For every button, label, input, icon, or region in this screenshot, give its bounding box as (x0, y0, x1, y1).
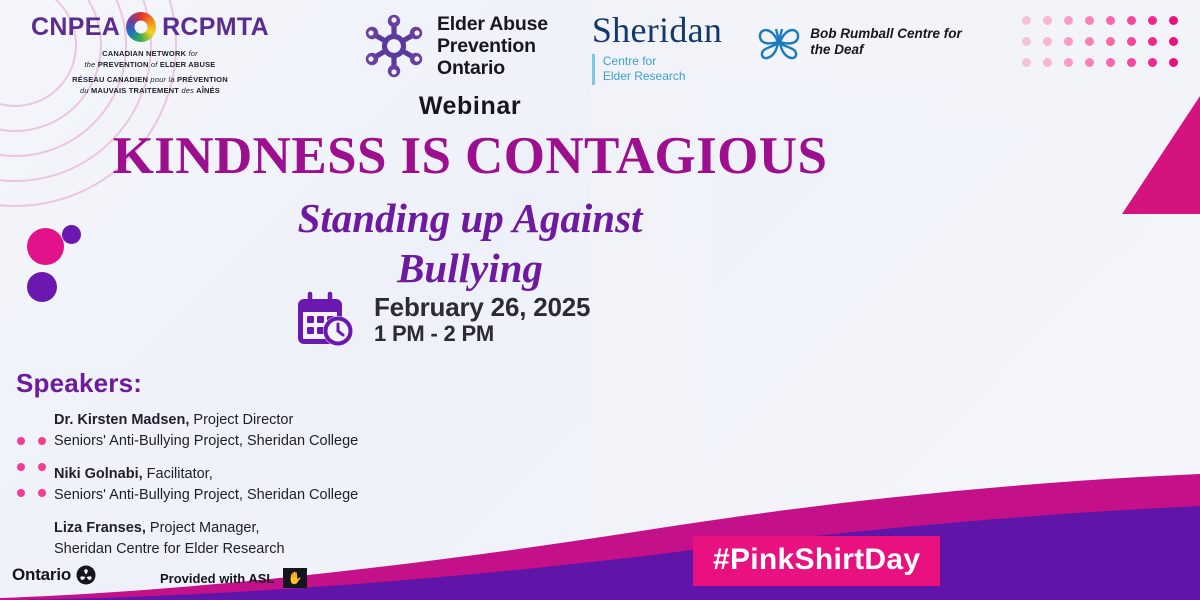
decor-dot (1127, 37, 1136, 46)
decor-dot (1085, 58, 1094, 67)
event-datetime-text: February 26, 2025 1 PM - 2 PM (374, 293, 590, 347)
logo-elder-abuse-prevention-ontario: Elder Abuse Prevention Ontario (362, 0, 548, 80)
decor-dot (1148, 58, 1157, 67)
list-item: Liza Franses, Project Manager, Sheridan … (54, 518, 494, 559)
cnpea-tagline-fr-1b: pour la (150, 75, 174, 84)
decor-dot (1043, 16, 1052, 25)
logo-sheridan: Sheridan Centre for Elder Research (592, 0, 722, 85)
decor-dot (17, 489, 25, 497)
decor-dot (1127, 58, 1136, 67)
decor-dot (38, 489, 46, 497)
speaker-affiliation: Seniors' Anti-Bullying Project, Sheridan… (54, 433, 358, 449)
brcd-line-1: Bob Rumball Centre for (810, 26, 962, 42)
decor-dot (1106, 37, 1115, 46)
page-title: KINDNESS IS CONTAGIOUS (0, 129, 940, 185)
cnpea-tagline-en-2a: the (84, 60, 95, 69)
decor-dot (1106, 58, 1115, 67)
hashtag-badge: #PinkShirtDay (693, 536, 940, 586)
decor-dot (38, 437, 46, 445)
color-wheel-ring-icon (126, 12, 156, 42)
decor-dot (1085, 16, 1094, 25)
dot-grid-left (10, 428, 52, 506)
event-date: February 26, 2025 (374, 293, 590, 322)
subtitle-line-2: Bullying (0, 243, 940, 293)
eapo-line-1: Elder Abuse (437, 13, 548, 35)
decor-dot (17, 463, 25, 471)
list-item: Niki Golnabi, Facilitator, Seniors' Anti… (54, 464, 494, 505)
decor-dot (1169, 16, 1178, 25)
decor-dot (1148, 16, 1157, 25)
webinar-poster: CNPEA RCPMTA CANADIAN NETWORK for the PR… (0, 0, 1200, 600)
cnpea-acronym-fr: RCPMTA (162, 13, 269, 42)
decor-dot (1127, 16, 1136, 25)
logo-cnpea: CNPEA RCPMTA CANADIAN NETWORK for the PR… (0, 0, 300, 97)
calendar-clock-icon (296, 291, 358, 349)
brcd-wordmark: Bob Rumball Centre for the Deaf (810, 26, 962, 58)
cnpea-tagline-en-2d: ELDER ABUSE (160, 60, 216, 69)
eapo-line-2: Prevention (437, 35, 548, 57)
cnpea-tagline-fr-1a: RÉSEAU CANADIEN (72, 75, 148, 84)
sheridan-wordmark: Sheridan (592, 12, 722, 48)
cnpea-tagline: CANADIAN NETWORK for the PREVENTION of E… (0, 49, 300, 97)
decor-dot (1064, 37, 1073, 46)
decor-dot (1085, 37, 1094, 46)
trillium-icon (76, 565, 96, 585)
speaker-affiliation: Sheridan Centre for Elder Research (54, 541, 285, 557)
decor-dot (17, 437, 25, 445)
page-subtitle: Standing up Against Bullying (0, 193, 940, 293)
partner-logo-bar: CNPEA RCPMTA CANADIAN NETWORK for the PR… (0, 0, 1040, 92)
subtitle-line-1: Standing up Against (0, 193, 940, 243)
logo-ontario: Ontario (12, 565, 96, 585)
cnpea-acronym-en: CNPEA (31, 13, 120, 42)
cnpea-tagline-en-2b: PREVENTION (98, 60, 149, 69)
list-item: Dr. Kirsten Madsen, Project Director Sen… (54, 410, 494, 451)
brcd-line-2: the Deaf (810, 42, 962, 58)
event-datetime: February 26, 2025 1 PM - 2 PM (296, 291, 590, 349)
speaker-affiliation: Seniors' Anti-Bullying Project, Sheridan… (54, 487, 358, 503)
cnpea-tagline-fr-1c: PRÉVENTION (177, 75, 228, 84)
decor-dot (1148, 37, 1157, 46)
decor-dot (1043, 37, 1052, 46)
cnpea-wordmark: CNPEA RCPMTA (0, 12, 300, 42)
eapo-wordmark: Elder Abuse Prevention Ontario (437, 13, 548, 80)
sheridan-subtitle: Centre for Elder Research (592, 54, 722, 85)
decor-dot (1169, 58, 1178, 67)
speaker-name: Liza Franses, (54, 520, 146, 536)
asl-label: Provided with ASL (160, 571, 274, 586)
asl-hands-icon: ✋ (283, 568, 307, 588)
corner-wedge-shape (1122, 96, 1200, 214)
cnpea-tagline-en-2c: of (151, 60, 158, 69)
decor-dot (1064, 16, 1073, 25)
speaker-role: Project Director (189, 412, 293, 428)
decor-dot (38, 463, 46, 471)
speakers-heading: Speakers: (16, 368, 142, 399)
sheridan-sub-line-2: Elder Research (603, 69, 722, 84)
logo-bob-rumball-centre: Bob Rumball Centre for the Deaf (756, 0, 962, 62)
speaker-name: Dr. Kirsten Madsen, (54, 412, 189, 428)
decor-dot (1064, 58, 1073, 67)
asl-availability-note: Provided with ASL ✋ (160, 568, 307, 588)
speaker-role: Facilitator, (143, 466, 213, 482)
speaker-name: Niki Golnabi, (54, 466, 143, 482)
cnpea-tagline-en-1: CANADIAN NETWORK (102, 49, 186, 58)
dot-grid-top-right (1016, 10, 1184, 73)
decor-dot (1169, 37, 1178, 46)
eapo-line-3: Ontario (437, 57, 548, 79)
cnpea-tagline-en-1b: for (188, 49, 197, 58)
headline-block: Webinar KINDNESS IS CONTAGIOUS Standing … (0, 92, 940, 293)
butterfly-icon (756, 22, 802, 62)
decor-dot (1043, 58, 1052, 67)
ontario-wordmark: Ontario (12, 565, 71, 585)
decor-dot (1106, 16, 1115, 25)
snowflake-people-icon (362, 14, 426, 78)
speakers-list: Dr. Kirsten Madsen, Project Director Sen… (54, 410, 494, 572)
sheridan-sub-line-1: Centre for (603, 54, 722, 69)
event-time: 1 PM - 2 PM (374, 322, 590, 347)
speaker-role: Project Manager, (146, 520, 260, 536)
webinar-eyebrow: Webinar (0, 92, 940, 121)
